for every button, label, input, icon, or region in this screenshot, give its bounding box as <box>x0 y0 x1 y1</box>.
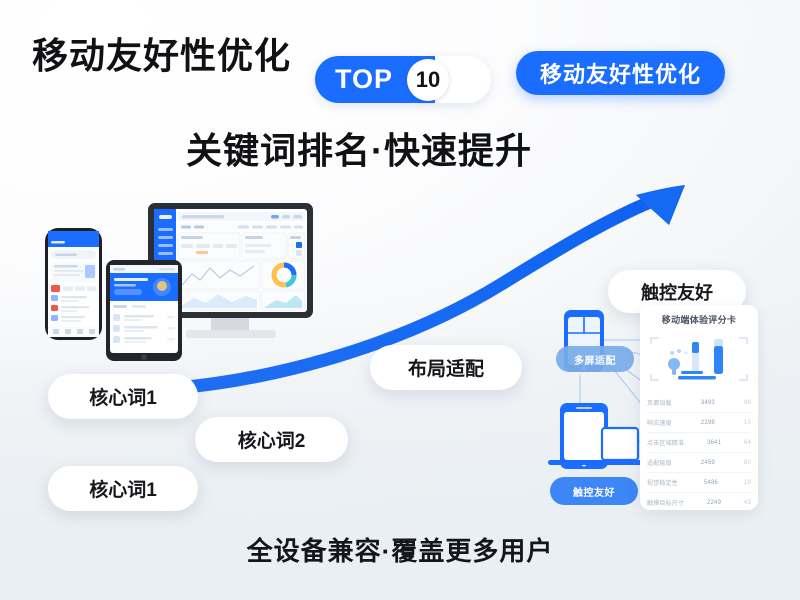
score-row: 触摸目标尺寸 2249 43 <box>647 493 751 510</box>
score-row-label: 点击区域精准 <box>647 438 684 447</box>
diagram-phone-bottom-icon <box>560 403 608 469</box>
score-row: 视觉稳定性 5486 18 <box>647 473 751 493</box>
score-row-value: 3641 <box>707 440 721 446</box>
footer-tagline: 全设备兼容·覆盖更多用户 <box>0 531 800 568</box>
diagram-badge-touch: 触控友好 <box>550 477 638 505</box>
score-card-chart <box>648 332 750 388</box>
score-row-label: 视觉稳定性 <box>647 478 678 487</box>
layout-adapt-pill[interactable]: 布局适配 <box>370 345 522 390</box>
score-row-label: 触摸目标尺寸 <box>647 498 684 507</box>
top-badge-number: 10 <box>407 59 449 101</box>
score-row: 页面加载 3493 98 <box>647 393 751 413</box>
smartphone-icon <box>45 228 102 340</box>
keyword-pill-1[interactable]: 核心词1 <box>48 374 198 419</box>
score-row: 适配层级 2459 80 <box>647 453 751 473</box>
keyword-pill-2[interactable]: 核心词2 <box>195 417 348 462</box>
score-row-extra: 98 <box>744 400 751 406</box>
score-row-value: 5486 <box>704 480 718 486</box>
header-tag-pill: 移动友好性优化 <box>516 51 725 95</box>
score-row-value: 3493 <box>701 400 715 406</box>
score-row-value: 2459 <box>701 460 715 466</box>
device-mockups <box>28 190 328 390</box>
score-row: 响应速度 2298 15 <box>647 413 751 433</box>
top-badge-word: TOP <box>335 64 393 95</box>
score-row-extra: 15 <box>744 420 751 426</box>
keyword-pill-3[interactable]: 核心词1 <box>48 466 198 511</box>
score-row-extra: 64 <box>744 440 751 446</box>
score-row-value: 2249 <box>707 500 721 506</box>
tablet-icon <box>106 260 182 361</box>
diagram-badge-multiscreen: 多屏适配 <box>556 346 634 372</box>
score-row-value: 2298 <box>701 420 715 426</box>
score-row: 点击区域精准 3641 64 <box>647 433 751 453</box>
score-row-label: 响应速度 <box>647 418 672 427</box>
score-row-label: 页面加载 <box>647 398 672 407</box>
score-row-extra: 18 <box>744 480 751 486</box>
poster-canvas: 移动友好性优化 TOP 10 移动友好性优化 关键词排名·快速提升 <box>0 0 800 600</box>
score-row-label: 适配层级 <box>647 458 672 467</box>
score-row-extra: 80 <box>744 460 751 466</box>
top-rank-badge: TOP 10 <box>315 56 491 103</box>
score-row-extra: 43 <box>744 500 751 506</box>
mobile-score-card: 移动端体验评分卡 <box>640 305 758 510</box>
score-card-rows: 页面加载 3493 98 响应速度 2298 15 点击区域精准 3641 64… <box>647 393 751 510</box>
page-title: 移动友好性优化 <box>32 27 291 79</box>
score-card-title: 移动端体验评分卡 <box>640 313 758 326</box>
